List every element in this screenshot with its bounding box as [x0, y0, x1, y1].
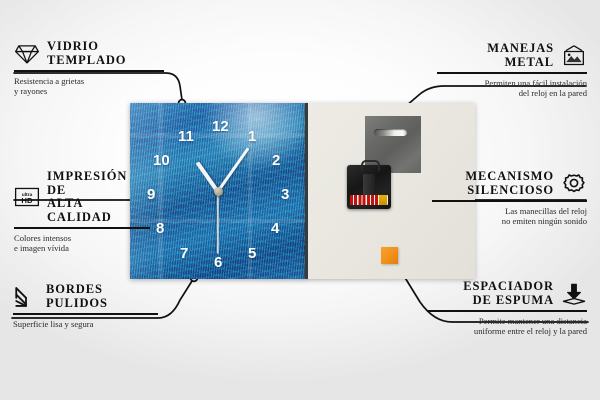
callout-title: MANEJAS METAL: [487, 42, 554, 69]
clock-numeral-8: 8: [156, 221, 164, 236]
callout-rule: [427, 310, 587, 312]
clock-numeral-11: 11: [178, 129, 194, 144]
wall-clock-front: 12 1 2 3 4 5 6 7 8 9 10 11: [130, 103, 306, 279]
mechanism-label-badge: [379, 195, 387, 205]
callout-vidrio-templado: VIDRIO TEMPLADO Resistencia a grietas y …: [14, 40, 164, 97]
callout-header: VIDRIO TEMPLADO: [14, 40, 164, 67]
callout-title: VIDRIO TEMPLADO: [47, 40, 126, 67]
clock-center-cap: [214, 187, 223, 196]
callout-subtitle: Superficie lisa y segura: [13, 319, 158, 330]
callout-title: BORDES PULIDOS: [46, 283, 108, 310]
diamond-icon: [14, 42, 40, 66]
callout-subtitle: Colores intensos e imagen vívida: [14, 233, 150, 254]
callout-subtitle: Resistencia a grietas y rayones: [14, 76, 164, 97]
clock-numeral-4: 4: [271, 221, 279, 236]
callout-manejas-metal: MANEJAS METAL Permiten una fácil instala…: [437, 42, 587, 99]
infographic-canvas: 12 1 2 3 4 5 6 7 8 9 10 11: [0, 0, 600, 400]
callout-rule: [14, 227, 150, 229]
clock-numeral-10: 10: [153, 153, 170, 168]
callout-bordes-pulidos: BORDES PULIDOS Superficie lisa y segura: [13, 283, 158, 329]
callout-rule: [14, 70, 164, 72]
callout-rule: [437, 72, 587, 74]
clock-numeral-5: 5: [248, 246, 256, 261]
clock-numeral-7: 7: [180, 246, 188, 261]
mechanism-shaft: [363, 174, 375, 196]
clock-mechanism: [347, 165, 391, 209]
callout-header: ESPACIADOR DE ESPUMA: [427, 280, 587, 307]
gear-icon: [561, 172, 587, 196]
polished-edges-icon: [13, 285, 39, 309]
callout-espaciador-espuma: ESPACIADOR DE ESPUMA Permite mantener un…: [427, 280, 587, 337]
callout-impresion-alta-calidad: ultra HD IMPRESIÓN DE ALTA CALIDAD Color…: [14, 170, 150, 254]
clock-side-edge: [305, 103, 308, 279]
callout-title: ESPACIADOR DE ESPUMA: [463, 280, 554, 307]
callout-subtitle: Las manecillas del reloj no emiten ningú…: [432, 206, 587, 227]
callout-mecanismo-silencioso: MECANISMO SILENCIOSO Las manecillas del …: [432, 170, 587, 227]
svg-text:HD: HD: [21, 196, 33, 205]
ultra-hd-icon: ultra HD: [14, 185, 40, 209]
clock-numeral-3: 3: [281, 187, 289, 202]
mechanism-hook: [361, 160, 380, 171]
callout-header: ultra HD IMPRESIÓN DE ALTA CALIDAD: [14, 170, 150, 224]
product-photo: 12 1 2 3 4 5 6 7 8 9 10 11: [130, 103, 475, 279]
clock-numeral-12: 12: [212, 119, 229, 134]
foam-spacer-square: [381, 247, 398, 264]
callout-header: BORDES PULIDOS: [13, 283, 158, 310]
clock-second-hand: [217, 192, 219, 254]
clock-numeral-2: 2: [272, 153, 280, 168]
foam-spacer-arrow-icon: [561, 282, 587, 306]
wall-frame-icon: [561, 44, 587, 68]
callout-header: MANEJAS METAL: [437, 42, 587, 69]
callout-header: MECANISMO SILENCIOSO: [432, 170, 587, 197]
callout-title: MECANISMO SILENCIOSO: [465, 170, 554, 197]
callout-rule: [432, 200, 587, 202]
callout-rule: [13, 313, 158, 315]
clock-numeral-1: 1: [248, 129, 256, 144]
hanger-slot: [374, 129, 407, 136]
callout-subtitle: Permiten una fácil instalación del reloj…: [437, 78, 587, 99]
callout-subtitle: Permite mantener una distancia uniforme …: [427, 316, 587, 337]
clock-numeral-6: 6: [214, 255, 222, 270]
callout-title: IMPRESIÓN DE ALTA CALIDAD: [47, 170, 150, 224]
